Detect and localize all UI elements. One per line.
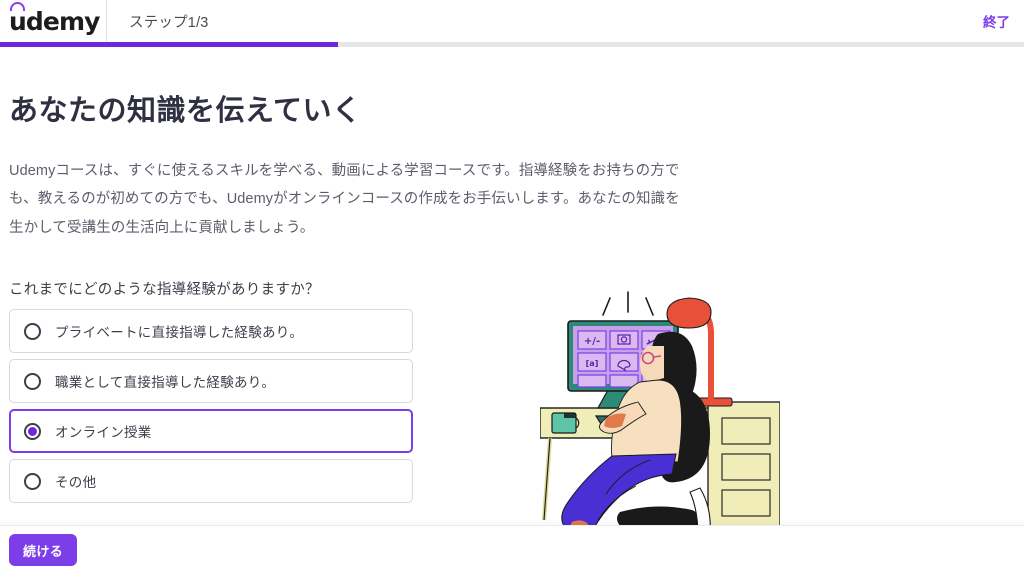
option-private-tutoring[interactable]: プライベートに直接指導した経験あり。 <box>9 309 413 353</box>
option-label: 職業として直接指導した経験あり。 <box>55 371 275 391</box>
radio-icon-selected[interactable] <box>24 423 41 440</box>
teaching-experience-options: プライベートに直接指導した経験あり。 職業として直接指導した経験あり。 オンライ… <box>9 309 413 509</box>
udemy-logo[interactable]: udemy <box>0 0 106 42</box>
step-indicator: ステップ1/3 <box>107 11 209 32</box>
svg-text:[a]: [a] <box>586 359 599 368</box>
radio-icon[interactable] <box>24 373 41 390</box>
option-label: プライベートに直接指導した経験あり。 <box>55 321 303 341</box>
coffee-mug-icon <box>552 413 579 433</box>
spark-lines-icon <box>603 292 653 315</box>
main-content: あなたの知識を伝えていく Udemyコースは、すぐに使えるスキルを学べる、動画に… <box>0 47 1024 574</box>
continue-button[interactable]: 続ける <box>9 534 77 566</box>
page-title: あなたの知識を伝えていく <box>9 93 362 129</box>
question-label: これまでにどのような指導経験がありますか？ <box>9 278 320 299</box>
option-label: オンライン授業 <box>55 421 152 441</box>
footer-bar: 続ける <box>0 525 1024 574</box>
option-professional-teaching[interactable]: 職業として直接指導した経験あり。 <box>9 359 413 403</box>
option-online-teaching[interactable]: オンライン授業 <box>9 409 413 453</box>
radio-icon[interactable] <box>24 323 41 340</box>
option-label: その他 <box>55 471 96 491</box>
option-other[interactable]: その他 <box>9 459 413 503</box>
app-header: udemy ステップ1/3 終了 <box>0 0 1024 42</box>
udemy-arc-icon <box>10 2 25 11</box>
intro-paragraph: Udemyコースは、すぐに使えるスキルを学べる、動画による学習コースです。指導経… <box>9 157 689 242</box>
logo-text: udemy <box>9 7 100 36</box>
svg-text:+/-: +/- <box>584 336 600 347</box>
radio-icon[interactable] <box>24 473 41 490</box>
exit-link[interactable]: 終了 <box>983 11 1024 31</box>
